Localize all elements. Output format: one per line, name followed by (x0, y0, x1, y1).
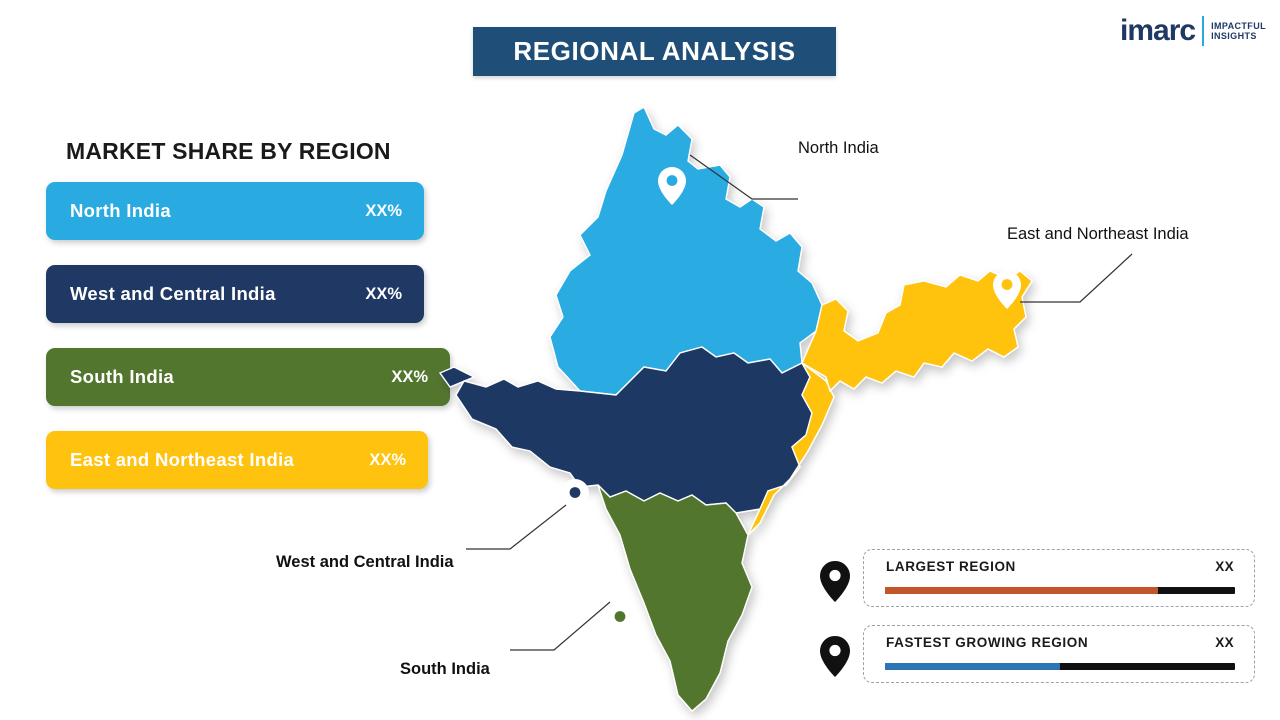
fastest-growing-region-pin-icon (818, 635, 852, 684)
stat-track (885, 663, 1235, 670)
stat-fill (885, 663, 1060, 670)
bar-value: XX% (391, 368, 428, 387)
stat-label: FASTEST GROWING REGION (886, 635, 1088, 650)
map-region-south-india (598, 485, 752, 711)
bar-label: West and Central India (70, 283, 276, 305)
stat-fill (885, 587, 1158, 594)
logo-tagline-line2: INSIGHTS (1211, 31, 1266, 41)
bar-label: South India (70, 366, 174, 388)
bar-row-west-and-central-india: West and Central India XX% (46, 265, 424, 323)
bar-label: East and Northeast India (70, 449, 294, 471)
logo-wordmark: imarc (1120, 14, 1195, 48)
bar-row-north-india: North India XX% (46, 182, 424, 240)
stat-box-largest-region: LARGEST REGION XX (863, 549, 1255, 607)
market-share-bar-list: North India XX% West and Central India X… (46, 182, 441, 514)
callout-north-india: North India (798, 139, 879, 158)
page-title-band: REGIONAL ANALYSIS (473, 27, 836, 76)
bar-label: North India (70, 200, 171, 222)
leader-line-west-and-central-india (466, 505, 576, 553)
bar-value: XX% (365, 202, 402, 221)
callout-east-and-northeast-india: East and Northeast India (1007, 225, 1189, 244)
slide-canvas: REGIONAL ANALYSIS imarc IMPACTFUL INSIGH… (0, 0, 1280, 720)
map-pin-east-and-northeast-india (993, 271, 1021, 309)
largest-region-pin-icon (818, 560, 852, 609)
logo-divider (1202, 16, 1204, 46)
leader-line-east-and-northeast-india (1020, 250, 1150, 306)
leader-line-north-india (690, 155, 800, 203)
leader-line-south-india (510, 600, 620, 652)
page-title: REGIONAL ANALYSIS (513, 36, 795, 67)
bar-row-south-india: South India XX% (46, 348, 450, 406)
market-share-heading: MARKET SHARE BY REGION (66, 138, 391, 165)
bar-value: XX% (369, 451, 406, 470)
stat-value: XX (1215, 635, 1234, 650)
stat-value: XX (1215, 559, 1234, 574)
stat-box-fastest-growing-region: FASTEST GROWING REGION XX (863, 625, 1255, 683)
map-pin-north-india (658, 167, 686, 205)
bar-value: XX% (365, 285, 402, 304)
bar-row-east-and-northeast-india: East and Northeast India XX% (46, 431, 428, 489)
logo-tagline-line1: IMPACTFUL (1211, 21, 1266, 31)
callout-west-and-central-india: West and Central India (276, 553, 454, 572)
callout-south-india: South India (400, 660, 490, 679)
stat-label: LARGEST REGION (886, 559, 1016, 574)
stat-track (885, 587, 1235, 594)
imarc-logo: imarc IMPACTFUL INSIGHTS (1120, 14, 1266, 48)
logo-tagline: IMPACTFUL INSIGHTS (1211, 21, 1266, 41)
